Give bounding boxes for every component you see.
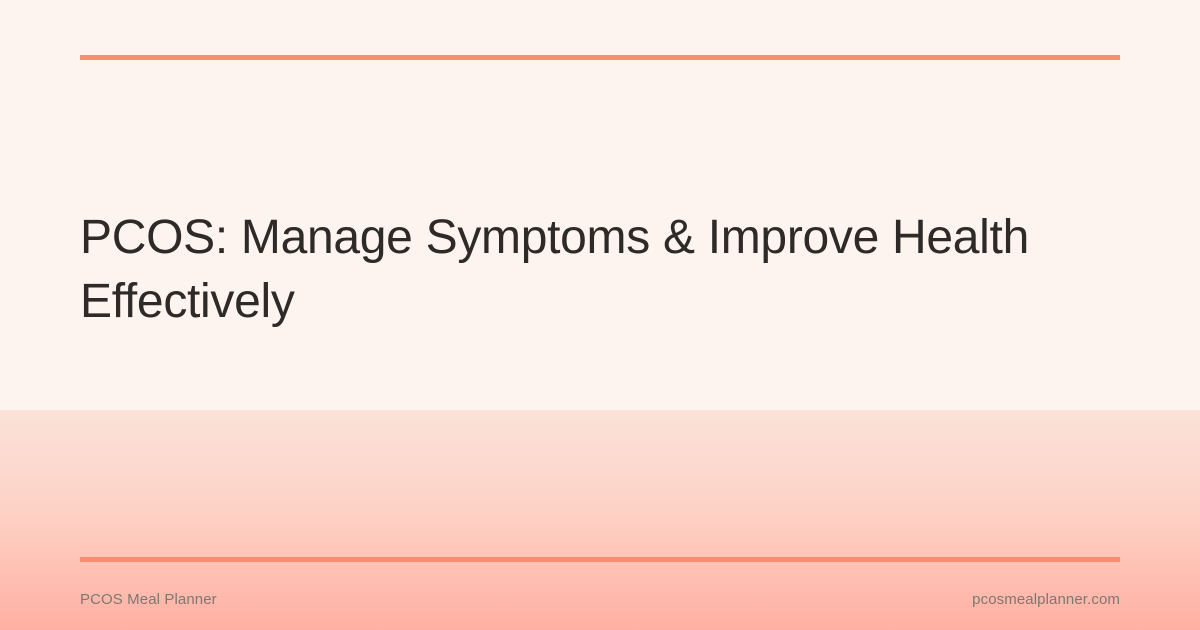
footer-accent-rule <box>80 557 1120 562</box>
footer-domain-label: pcosmealplanner.com <box>972 590 1120 610</box>
page-title: PCOS: Manage Symptoms & Improve Health E… <box>80 206 1120 334</box>
top-accent-rule <box>80 55 1120 60</box>
social-share-card: PCOS: Manage Symptoms & Improve Health E… <box>0 0 1200 630</box>
gradient-band: PCOS Meal Planner pcosmealplanner.com <box>0 410 1200 630</box>
footer-brand-label: PCOS Meal Planner <box>80 590 217 610</box>
footer: PCOS Meal Planner pcosmealplanner.com <box>80 590 1120 610</box>
hero-section: PCOS: Manage Symptoms & Improve Health E… <box>0 0 1200 410</box>
